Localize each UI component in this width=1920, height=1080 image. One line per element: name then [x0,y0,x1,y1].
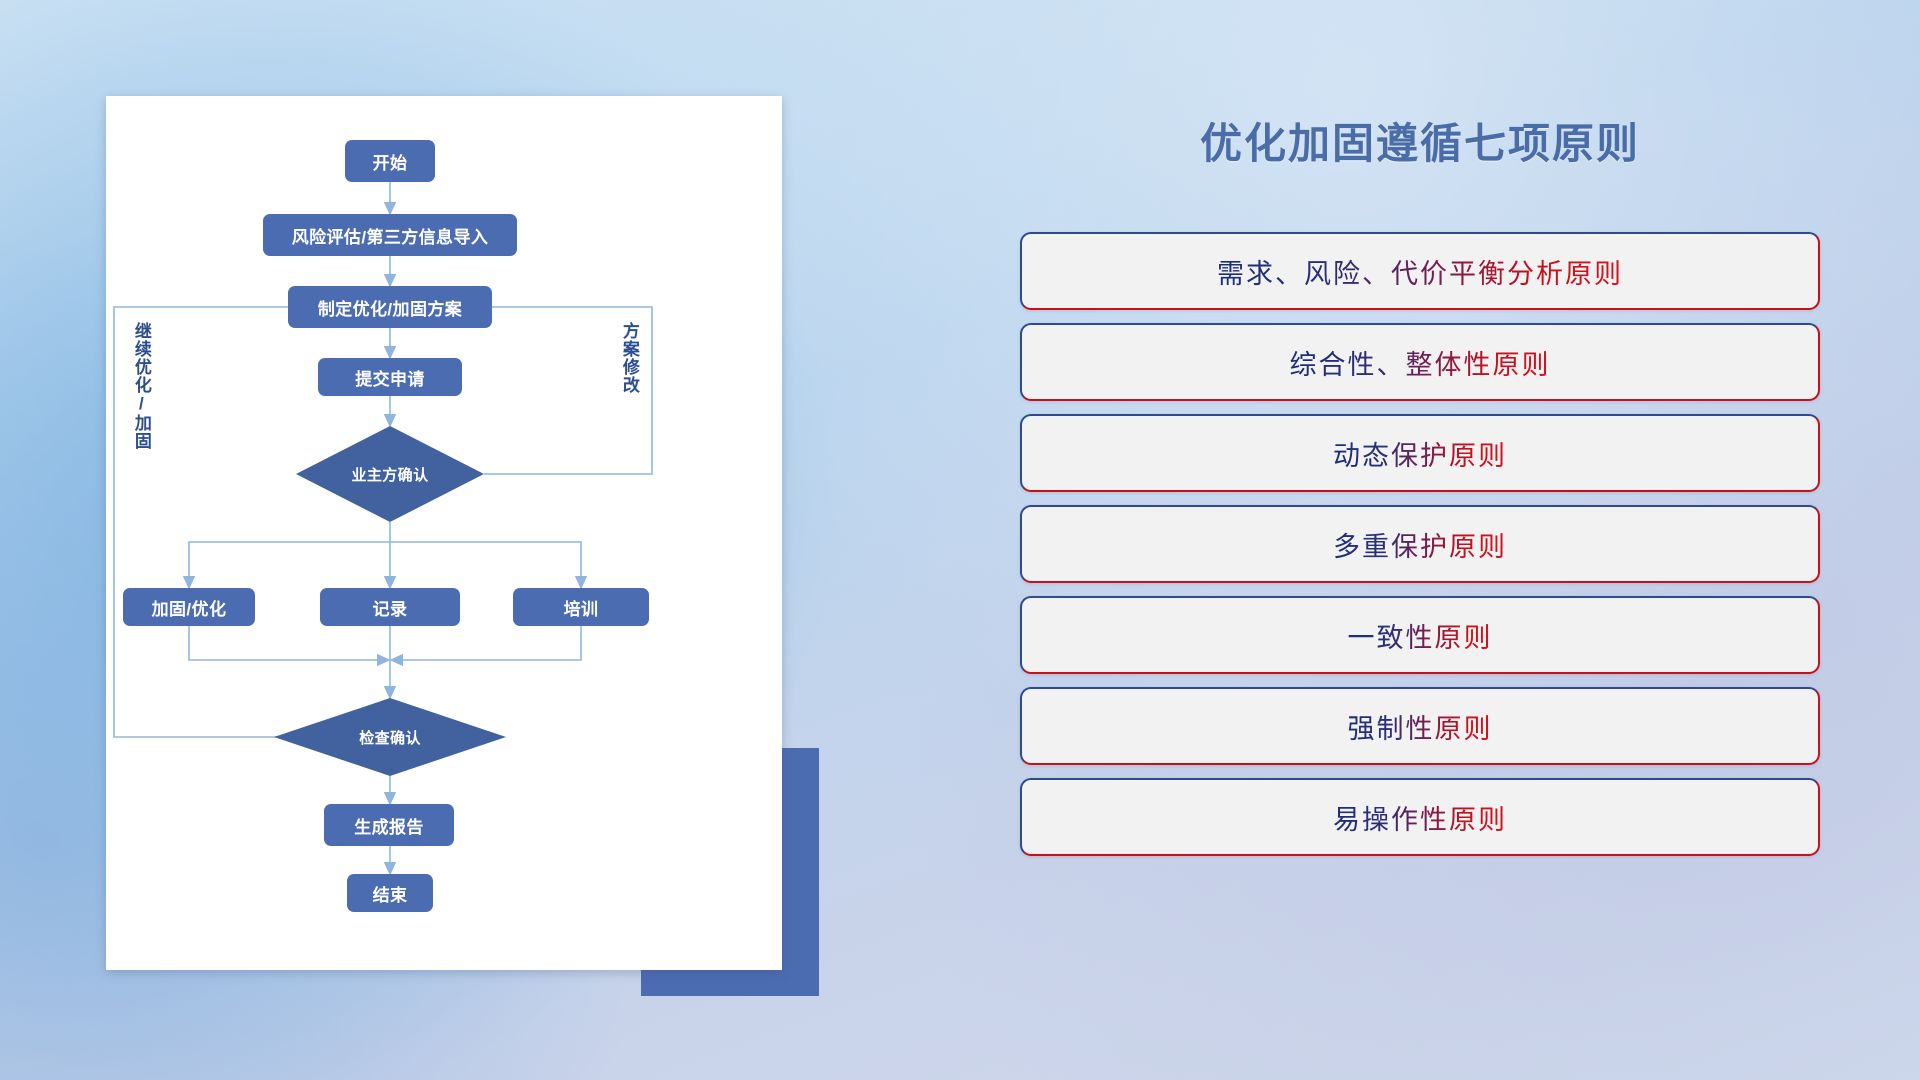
principle-card-list: 需求、风险、代价平衡分析原则 综合性、整体性原则 动态保护原则 多重保护原则 一… [1020,232,1820,869]
flow-edge-label-continue-optimize: 继续优化/加固 [132,322,150,450]
principle-card-5[interactable]: 一致性原则 [1020,596,1820,674]
principle-card-4[interactable]: 多重保护原则 [1020,505,1820,583]
flowchart-canvas [106,96,782,970]
principle-card-6[interactable]: 强制性原则 [1020,687,1820,765]
principle-card-3[interactable]: 动态保护原则 [1020,414,1820,492]
principles-pane: 优化加固遵循七项原则 需求、风险、代价平衡分析原则 综合性、整体性原则 动态保护… [1020,0,1850,1080]
slide-canvas: 开始 风险评估/第三方信息导入 制定优化/加固方案 提交申请 业主方确认 加固/… [0,0,1920,1080]
principle-card-1[interactable]: 需求、风险、代价平衡分析原则 [1020,232,1820,310]
pane-title: 优化加固遵循七项原则 [1020,110,1820,171]
principle-card-label: 综合性、整体性原则 [1290,343,1551,382]
flow-nodes [123,140,649,912]
principle-card-label: 多重保护原则 [1333,525,1507,564]
principle-card-label: 一致性原则 [1348,616,1493,655]
principle-card-label: 强制性原则 [1348,707,1493,746]
principle-card-7[interactable]: 易操作性原则 [1020,778,1820,856]
flowchart-card: 开始 风险评估/第三方信息导入 制定优化/加固方案 提交申请 业主方确认 加固/… [106,96,782,970]
principle-card-label: 需求、风险、代价平衡分析原则 [1217,252,1623,291]
principle-card-label: 易操作性原则 [1333,798,1507,837]
principle-card-2[interactable]: 综合性、整体性原则 [1020,323,1820,401]
flow-edge-label-revise-plan: 方案修改 [620,322,638,394]
principle-card-label: 动态保护原则 [1333,434,1507,473]
